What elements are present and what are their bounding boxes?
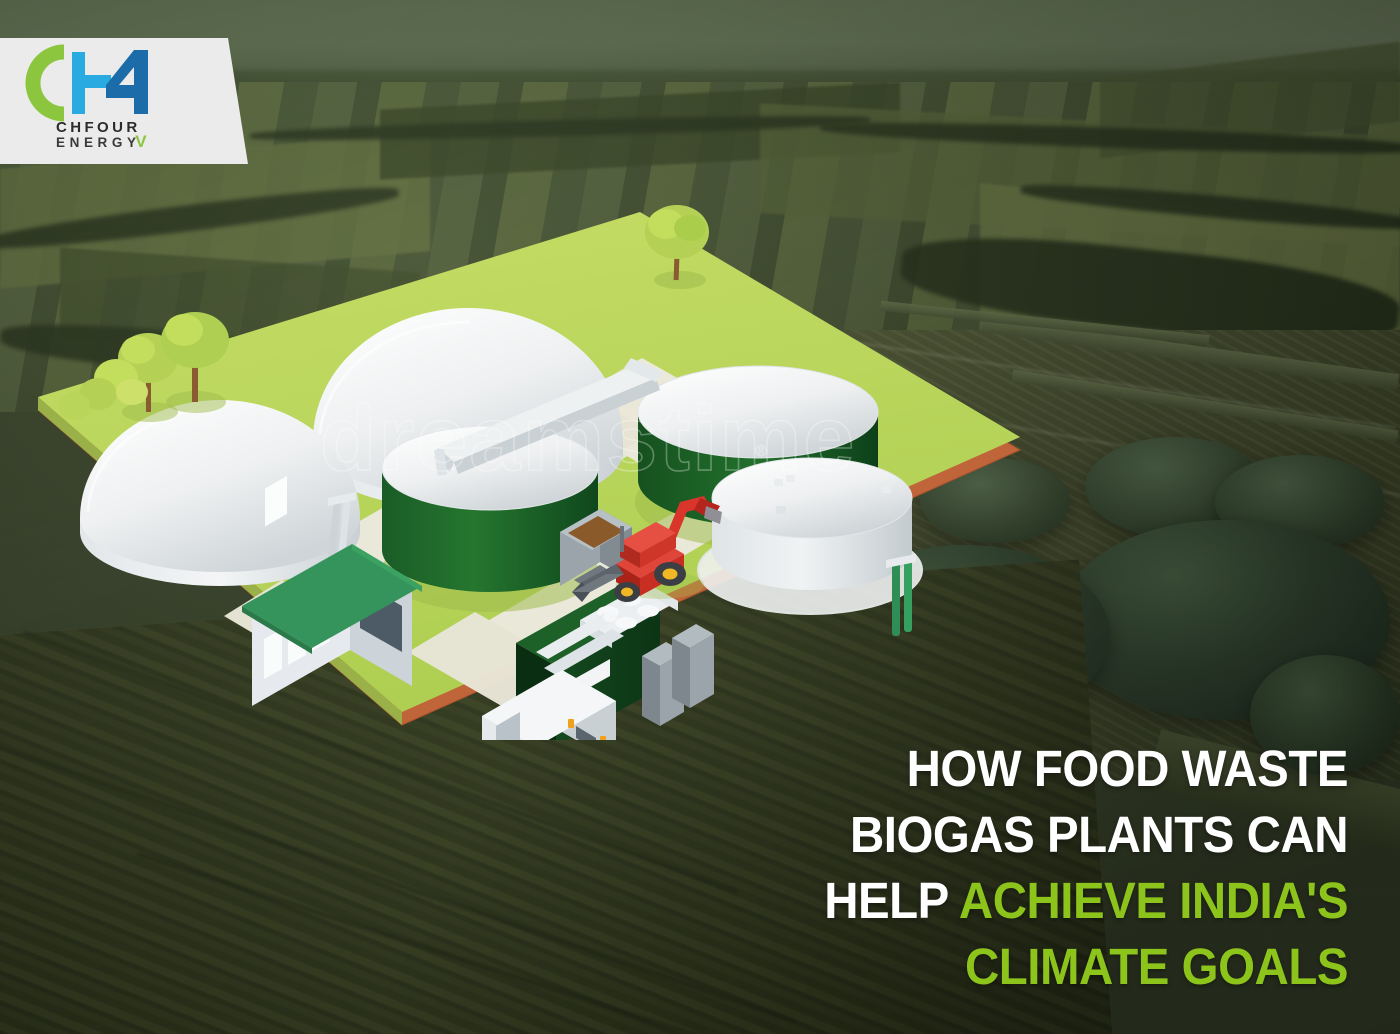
brand-logo-banner[interactable]: CHFOUR ENERGY V	[0, 38, 250, 164]
headline-line-2: BIOGAS PLANTS CAN	[771, 802, 1348, 868]
headline-line-4: CLIMATE GOALS	[771, 934, 1348, 1000]
headline-line-3-accent: ACHIEVE INDIA'S	[959, 872, 1348, 929]
ch4-logomark	[18, 44, 178, 122]
article-headline: HOW FOOD WASTE BIOGAS PLANTS CAN HELP AC…	[728, 736, 1348, 1000]
bush	[58, 392, 90, 420]
brand-name-line2-text: ENERGY	[56, 135, 141, 150]
headline-line-3: HELP ACHIEVE INDIA'S	[771, 868, 1348, 934]
brand-check-mark: V	[135, 134, 146, 150]
brand-name-line1: CHFOUR	[56, 120, 141, 135]
headline-line-1: HOW FOOD WASTE	[771, 736, 1348, 802]
stock-watermark: dreamstime	[320, 388, 856, 490]
brand-name-line2: ENERGY V	[56, 135, 141, 151]
brand-wordmark: CHFOUR ENERGY V	[56, 120, 141, 151]
headline-line-3-plain: HELP	[824, 872, 959, 929]
biogas-plant-illustration: dreamstime ®	[20, 150, 1030, 740]
stock-watermark-mark: ®	[755, 443, 767, 460]
